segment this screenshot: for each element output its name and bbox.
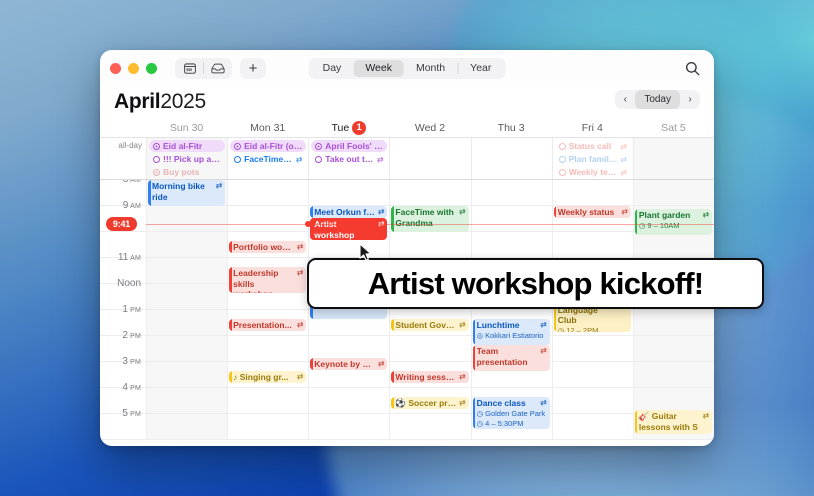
events-layer: Morning bike ride⇄Meet Orkun fo...⇄FaceT… [146, 180, 714, 446]
all-day-event-title: Eid al-Fitr (obs... [244, 141, 302, 151]
event-meta-text: 9 – 10AM [647, 221, 679, 232]
all-day-event-title: April Fools' Day [325, 141, 383, 151]
all-day-event-title: Buy pots [163, 167, 221, 177]
search-icon[interactable] [683, 59, 702, 78]
clock-icon: ◷ [639, 221, 646, 232]
event-color-bar [473, 397, 476, 429]
all-day-column-6[interactable] [633, 138, 714, 179]
all-day-event-title: Plan family... [569, 154, 618, 164]
event-dot-icon [234, 143, 241, 150]
all-day-column-3[interactable] [389, 138, 470, 179]
repeat-icon: ⇄ [459, 398, 465, 409]
event-title: FaceTime with Grandma [395, 207, 456, 228]
event-title: Leadership skills workshop [233, 268, 294, 293]
hour-label: 5 PM [100, 408, 146, 433]
event-location: ◎Kokkari Estiatorio [477, 331, 547, 342]
add-event-button[interactable]: + [240, 58, 266, 79]
event-meta-text: Kokkari Estiatorio [485, 331, 543, 342]
repeat-icon: ⇄ [296, 155, 302, 164]
minimize-button[interactable] [128, 63, 139, 74]
event-title: Team presentation [477, 346, 538, 367]
next-week-button[interactable]: › [680, 90, 700, 109]
event-title: Writing sessio... [395, 372, 456, 383]
location-pin-icon: ◎ [477, 331, 484, 342]
event-title: Keynote by Ja... [314, 359, 375, 370]
all-day-column-5[interactable]: Status call⇄Plan family...⇄Weekly tea...… [552, 138, 633, 179]
event-color-bar [310, 218, 313, 240]
traffic-lights [110, 63, 157, 74]
day-header-sun[interactable]: Sun30 [146, 118, 227, 137]
event-title: Weekly status [558, 207, 619, 218]
calendar-event[interactable]: Portfolio work...⇄ [229, 241, 306, 253]
calendar-event[interactable]: FaceTime with Grandma⇄ [391, 206, 468, 232]
event-title: Portfolio work... [233, 242, 294, 253]
all-day-event-title: Weekly tea... [569, 167, 618, 177]
date-navigation: ‹ Today › [615, 90, 700, 109]
day-number: 3 [519, 122, 525, 134]
hour-label: 4 PM [100, 382, 146, 407]
repeat-icon: ⇄ [621, 168, 627, 177]
event-color-bar [229, 371, 232, 383]
event-color-bar [310, 206, 313, 218]
calendar-event[interactable]: Meet Orkun fo...⇄ [310, 206, 387, 218]
hour-suffix: AM [128, 255, 141, 262]
all-day-column-1[interactable]: Eid al-Fitr (obs...FaceTime G...⇄ [227, 138, 308, 179]
event-title: Presentation... [233, 320, 294, 331]
calendar-event[interactable]: Artist workshop kickoff!⇄ [310, 218, 387, 240]
event-title: Morning bike ride [152, 181, 213, 202]
hour-suffix: PM [128, 307, 141, 314]
calendar-event[interactable]: Keynote by Ja...⇄ [310, 358, 387, 370]
all-day-event[interactable]: Plan family...⇄ [555, 153, 631, 165]
repeat-icon: ⇄ [377, 155, 383, 164]
event-title: ⚽ Soccer pra... [395, 398, 456, 409]
all-day-event-title: Eid al-Fitr [163, 141, 221, 151]
hour-label: 2 PM [100, 330, 146, 355]
calendar-event[interactable]: Plant garden⇄◷9 – 10AM [635, 209, 712, 235]
view-tab-year[interactable]: Year [458, 60, 503, 77]
day-name: Sun [170, 122, 189, 134]
event-color-bar [391, 206, 394, 232]
repeat-icon: ⇄ [297, 268, 303, 279]
event-meta-text: 12 – 2PM [566, 326, 598, 333]
hour-label: 3 PM [100, 356, 146, 381]
event-color-bar [229, 319, 232, 331]
calendar-event[interactable]: Weekly status⇄ [554, 206, 631, 218]
event-color-bar [229, 241, 232, 253]
day-name: Thu [498, 122, 516, 134]
view-tab-week[interactable]: Week [353, 60, 404, 77]
event-circle-icon [153, 156, 160, 163]
hour-suffix: PM [128, 333, 141, 340]
repeat-icon: ⇄ [378, 207, 384, 218]
repeat-icon: ⇄ [297, 242, 303, 253]
event-dot-icon [153, 143, 160, 150]
event-meta-text: 4 – 5:30PM [485, 419, 523, 429]
caption-banner: Artist workshop kickoff! [307, 258, 764, 309]
event-title: Artist workshop kickoff! [314, 219, 375, 240]
day-name: Fri [582, 122, 594, 134]
calendar-event[interactable]: Presentation...⇄ [229, 319, 306, 331]
event-title: ♪ Singing gr... [233, 372, 294, 383]
calendar-event[interactable]: Writing sessio...⇄ [391, 371, 468, 383]
hour-label: 8 AM [100, 180, 146, 199]
hour-suffix: AM [128, 203, 141, 210]
all-day-label: all-day [100, 138, 146, 179]
hour-suffix: AM [128, 180, 141, 184]
all-day-event-title: Take out the... [325, 154, 374, 164]
event-color-bar [391, 397, 394, 409]
hour-label: 1 PM [100, 304, 146, 329]
view-switcher: Day Week Month Year [309, 58, 506, 79]
repeat-icon: ⇄ [297, 372, 303, 383]
mouse-cursor [359, 243, 372, 262]
event-time: ◷9 – 10AM [639, 221, 709, 232]
event-color-bar [473, 319, 476, 345]
event-dot-icon [153, 169, 160, 176]
event-color-bar [310, 358, 313, 370]
calendar-event[interactable]: ♪ Singing gr...⇄ [229, 371, 306, 383]
day-name: Tue [331, 122, 349, 134]
toolbar-icon-group [175, 58, 232, 79]
all-day-column-0[interactable]: Eid al-Fitr!!! Pick up arts...Buy pots [146, 138, 227, 179]
repeat-icon: ⇄ [703, 411, 709, 422]
day-number: 5 [680, 122, 686, 134]
previous-week-button[interactable]: ‹ [615, 90, 635, 109]
event-title: 🎸 Guitar lessons with S [639, 411, 700, 432]
clock-icon: ◷ [477, 409, 484, 420]
calendar-event[interactable]: Student Gover...⇄ [391, 319, 468, 331]
all-day-event[interactable]: FaceTime G...⇄ [230, 153, 306, 165]
calendar-event[interactable]: Dance class⇄◷Golden Gate Park◷4 – 5:30PM [473, 397, 550, 429]
calendar-window: + Day Week Month Year April2025 ‹ Today … [100, 50, 714, 446]
event-circle-icon [315, 156, 322, 163]
day-header-wed[interactable]: Wed2 [389, 118, 470, 137]
event-title: Meet Orkun fo... [314, 207, 375, 218]
today-date-badge: 1 [352, 121, 366, 135]
calendar-event[interactable]: ⚽ Soccer pra...⇄ [391, 397, 468, 409]
repeat-icon: ⇄ [622, 207, 628, 218]
event-time: ◷Golden Gate Park [477, 409, 547, 420]
repeat-icon: ⇄ [297, 320, 303, 331]
event-title: Dance class [477, 398, 538, 409]
event-dot-icon [315, 143, 322, 150]
day-name: Sat [661, 122, 677, 134]
event-time: ◷12 – 2PM [558, 326, 628, 333]
day-header-mon[interactable]: Mon31 [227, 118, 308, 137]
year-label: 2025 [160, 90, 206, 113]
repeat-icon: ⇄ [540, 346, 546, 357]
calendar-event[interactable]: 🎸 Guitar lessons with S⇄ [635, 410, 712, 434]
all-day-event[interactable]: April Fools' Day [311, 140, 387, 152]
event-color-bar [635, 410, 638, 434]
day-number: 2 [439, 122, 445, 134]
repeat-icon: ⇄ [621, 142, 627, 151]
view-tab-day[interactable]: Day [311, 60, 354, 77]
hour-label: Noon [100, 278, 146, 303]
month-header: April2025 ‹ Today › [100, 86, 714, 118]
repeat-icon: ⇄ [621, 155, 627, 164]
day-name: Mon [250, 122, 270, 134]
current-time-line [146, 224, 714, 225]
all-day-event[interactable]: Take out the...⇄ [311, 153, 387, 165]
calendar-icon[interactable] [176, 59, 203, 78]
page-title: April2025 [114, 90, 206, 114]
event-color-bar [391, 319, 394, 331]
all-day-event[interactable]: Buy pots [149, 166, 225, 178]
day-header-tue[interactable]: Tue1 [308, 118, 389, 137]
calendar-event[interactable]: Leadership skills workshop⇄ [229, 267, 306, 293]
day-header-thu[interactable]: Thu3 [471, 118, 552, 137]
event-color-bar [229, 267, 232, 293]
day-header-sat[interactable]: Sat5 [633, 118, 714, 137]
repeat-icon: ⇄ [216, 181, 222, 192]
event-circle-icon [559, 143, 566, 150]
repeat-icon: ⇄ [378, 359, 384, 370]
event-color-bar [635, 209, 638, 235]
all-day-column-4[interactable] [471, 138, 552, 179]
event-color-bar [554, 206, 557, 218]
day-number: 30 [192, 122, 204, 134]
window-titlebar: + Day Week Month Year [100, 50, 714, 86]
all-day-event-title: Status call [569, 141, 618, 151]
hour-suffix: PM [128, 411, 141, 418]
close-button[interactable] [110, 63, 121, 74]
day-number: 31 [274, 122, 286, 134]
event-time: ◷4 – 5:30PM [477, 419, 547, 429]
all-day-event[interactable]: !!! Pick up arts... [149, 153, 225, 165]
repeat-icon: ⇄ [459, 372, 465, 383]
caption-banner-text: Artist workshop kickoff! [368, 266, 704, 302]
calendar-event[interactable]: Team presentation⇄ [473, 345, 550, 371]
calendar-event[interactable]: Lunchtime⇄◎Kokkari Estiatorio [473, 319, 550, 345]
month-name: April [114, 90, 160, 113]
all-day-event[interactable]: Weekly tea...⇄ [555, 166, 631, 178]
today-button[interactable]: Today [635, 90, 680, 109]
day-number: 4 [597, 122, 603, 134]
repeat-icon: ⇄ [540, 320, 546, 331]
event-title: Lunchtime [477, 320, 538, 331]
day-header-fri[interactable]: Fri4 [552, 118, 633, 137]
time-grid[interactable]: 8 AM9 AM11 AMNoon1 PM2 PM3 PM4 PM5 PM Mo… [100, 180, 714, 446]
all-day-event[interactable]: Eid al-Fitr [149, 140, 225, 152]
repeat-icon: ⇄ [540, 398, 546, 409]
inbox-icon[interactable] [204, 59, 231, 78]
repeat-icon: ⇄ [703, 210, 709, 221]
view-tab-month[interactable]: Month [404, 60, 457, 77]
repeat-icon: ⇄ [459, 207, 465, 218]
event-color-bar [148, 180, 151, 206]
event-title: Plant garden [639, 210, 700, 221]
event-circle-icon [234, 156, 241, 163]
hour-suffix: PM [128, 385, 141, 392]
event-color-bar [391, 371, 394, 383]
day-name: Wed [415, 122, 436, 134]
header-gutter [100, 118, 146, 137]
all-day-row: all-day Eid al-Fitr!!! Pick up arts...Bu… [100, 138, 714, 180]
event-color-bar [473, 345, 476, 371]
repeat-icon: ⇄ [459, 320, 465, 331]
current-time-pill: 9:41 [106, 217, 137, 231]
all-day-event-title: FaceTime G... [244, 154, 293, 164]
all-day-event[interactable]: Eid al-Fitr (obs... [230, 140, 306, 152]
hour-suffix: PM [128, 359, 141, 366]
event-circle-icon [559, 156, 566, 163]
day-header-row: Sun30Mon31Tue1Wed2Thu3Fri4Sat5 [100, 118, 714, 138]
all-day-event[interactable]: Status call⇄ [555, 140, 631, 152]
all-day-column-2[interactable]: April Fools' DayTake out the...⇄ [308, 138, 389, 179]
clock-icon: ◷ [558, 326, 565, 333]
event-circle-icon [559, 169, 566, 176]
event-title: Student Gover... [395, 320, 456, 331]
zoom-button[interactable] [146, 63, 157, 74]
clock-icon: ◷ [477, 419, 484, 429]
calendar-event[interactable]: Morning bike ride⇄ [148, 180, 225, 206]
event-meta-text: Golden Gate Park [485, 409, 545, 420]
all-day-event-title: !!! Pick up arts... [163, 154, 221, 164]
hour-label: 11 AM [100, 252, 146, 277]
